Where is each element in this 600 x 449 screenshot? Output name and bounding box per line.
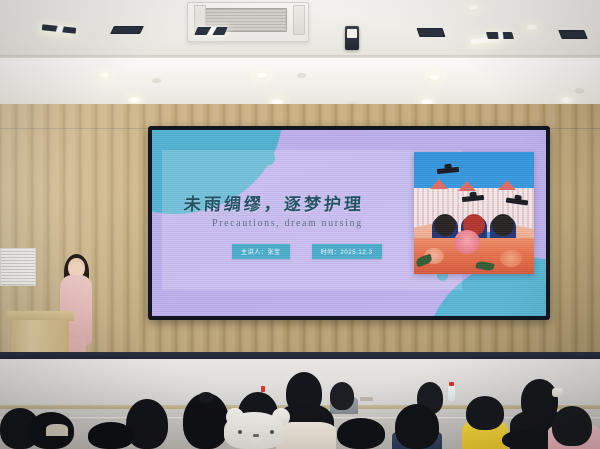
audience-hair-bun bbox=[198, 392, 214, 403]
ceiling-speaker-left bbox=[345, 26, 359, 50]
downlight-3 bbox=[97, 72, 111, 79]
downlight-2 bbox=[525, 24, 539, 31]
bear-eye-left-icon bbox=[238, 430, 242, 434]
water-bottle bbox=[448, 385, 455, 401]
audience-head-front-center-low bbox=[337, 418, 385, 449]
photo-graduate-hair-3 bbox=[492, 214, 514, 236]
downlight-6 bbox=[128, 97, 142, 104]
audience-head-mid-grey bbox=[330, 382, 354, 410]
photo-roof-1 bbox=[430, 179, 448, 189]
ac-vent-right bbox=[293, 5, 305, 35]
smoke-detector-2 bbox=[297, 73, 306, 77]
wall-vent-grille bbox=[0, 248, 36, 286]
smoke-detector-4 bbox=[575, 88, 584, 92]
ceiling-slot-2 bbox=[110, 26, 144, 34]
water-bottle-cap bbox=[449, 382, 454, 386]
audience-head-front-left-3 bbox=[88, 422, 134, 449]
photo-roof-2 bbox=[458, 181, 476, 191]
ceiling-slot-3 bbox=[194, 27, 227, 35]
slide-tag-row: 主讲人：张宝 时间：2025.12.3 bbox=[232, 244, 382, 259]
ceiling-lower bbox=[0, 58, 600, 110]
audience-cream-jacket bbox=[276, 422, 336, 449]
ceiling-slot-4 bbox=[417, 28, 446, 37]
ceiling-slot-6 bbox=[558, 30, 588, 39]
downlight-1 bbox=[466, 4, 480, 11]
smoke-detector-1 bbox=[152, 78, 161, 82]
photo-rose-center bbox=[454, 230, 480, 254]
audience-head-front-right-low bbox=[502, 430, 546, 449]
bear-plush-hood bbox=[224, 412, 284, 449]
speaker-face bbox=[347, 29, 357, 38]
hair-clip-white bbox=[552, 388, 563, 397]
audience-head-front-5 bbox=[466, 396, 504, 430]
lecture-hall-photo: 未雨绸缪，逐梦护理 Precautions, dream nursing 主讲人… bbox=[0, 0, 600, 449]
phone-on-desk bbox=[360, 397, 373, 401]
audience-head-front-6 bbox=[552, 406, 592, 446]
slide-speaker-tag: 主讲人：张宝 bbox=[232, 244, 290, 259]
photo-flower-right bbox=[500, 250, 522, 267]
projection-screen-bezel: 未雨绸缪，逐梦护理 Precautions, dream nursing 主讲人… bbox=[148, 126, 550, 320]
bear-nose-icon bbox=[253, 434, 259, 437]
small-red-object bbox=[261, 386, 265, 392]
downlight-4 bbox=[255, 72, 269, 79]
audience-head-front-4 bbox=[395, 404, 439, 449]
ceiling-slot-5 bbox=[486, 32, 514, 39]
audience-light-hair bbox=[46, 424, 68, 436]
photo-roof-3 bbox=[498, 180, 516, 190]
downlight-9 bbox=[560, 97, 574, 104]
bear-eye-right-icon bbox=[270, 430, 274, 434]
slide-subtitle: Precautions, dream nursing bbox=[212, 218, 363, 229]
downlight-5 bbox=[428, 74, 442, 81]
slide-date-tag: 时间：2025.12.3 bbox=[312, 244, 382, 259]
photo-graduate-hair-1 bbox=[434, 214, 456, 236]
slide-canvas: 未雨绸缪，逐梦护理 Precautions, dream nursing 主讲人… bbox=[152, 130, 546, 316]
slide-graduation-photo bbox=[414, 152, 534, 274]
